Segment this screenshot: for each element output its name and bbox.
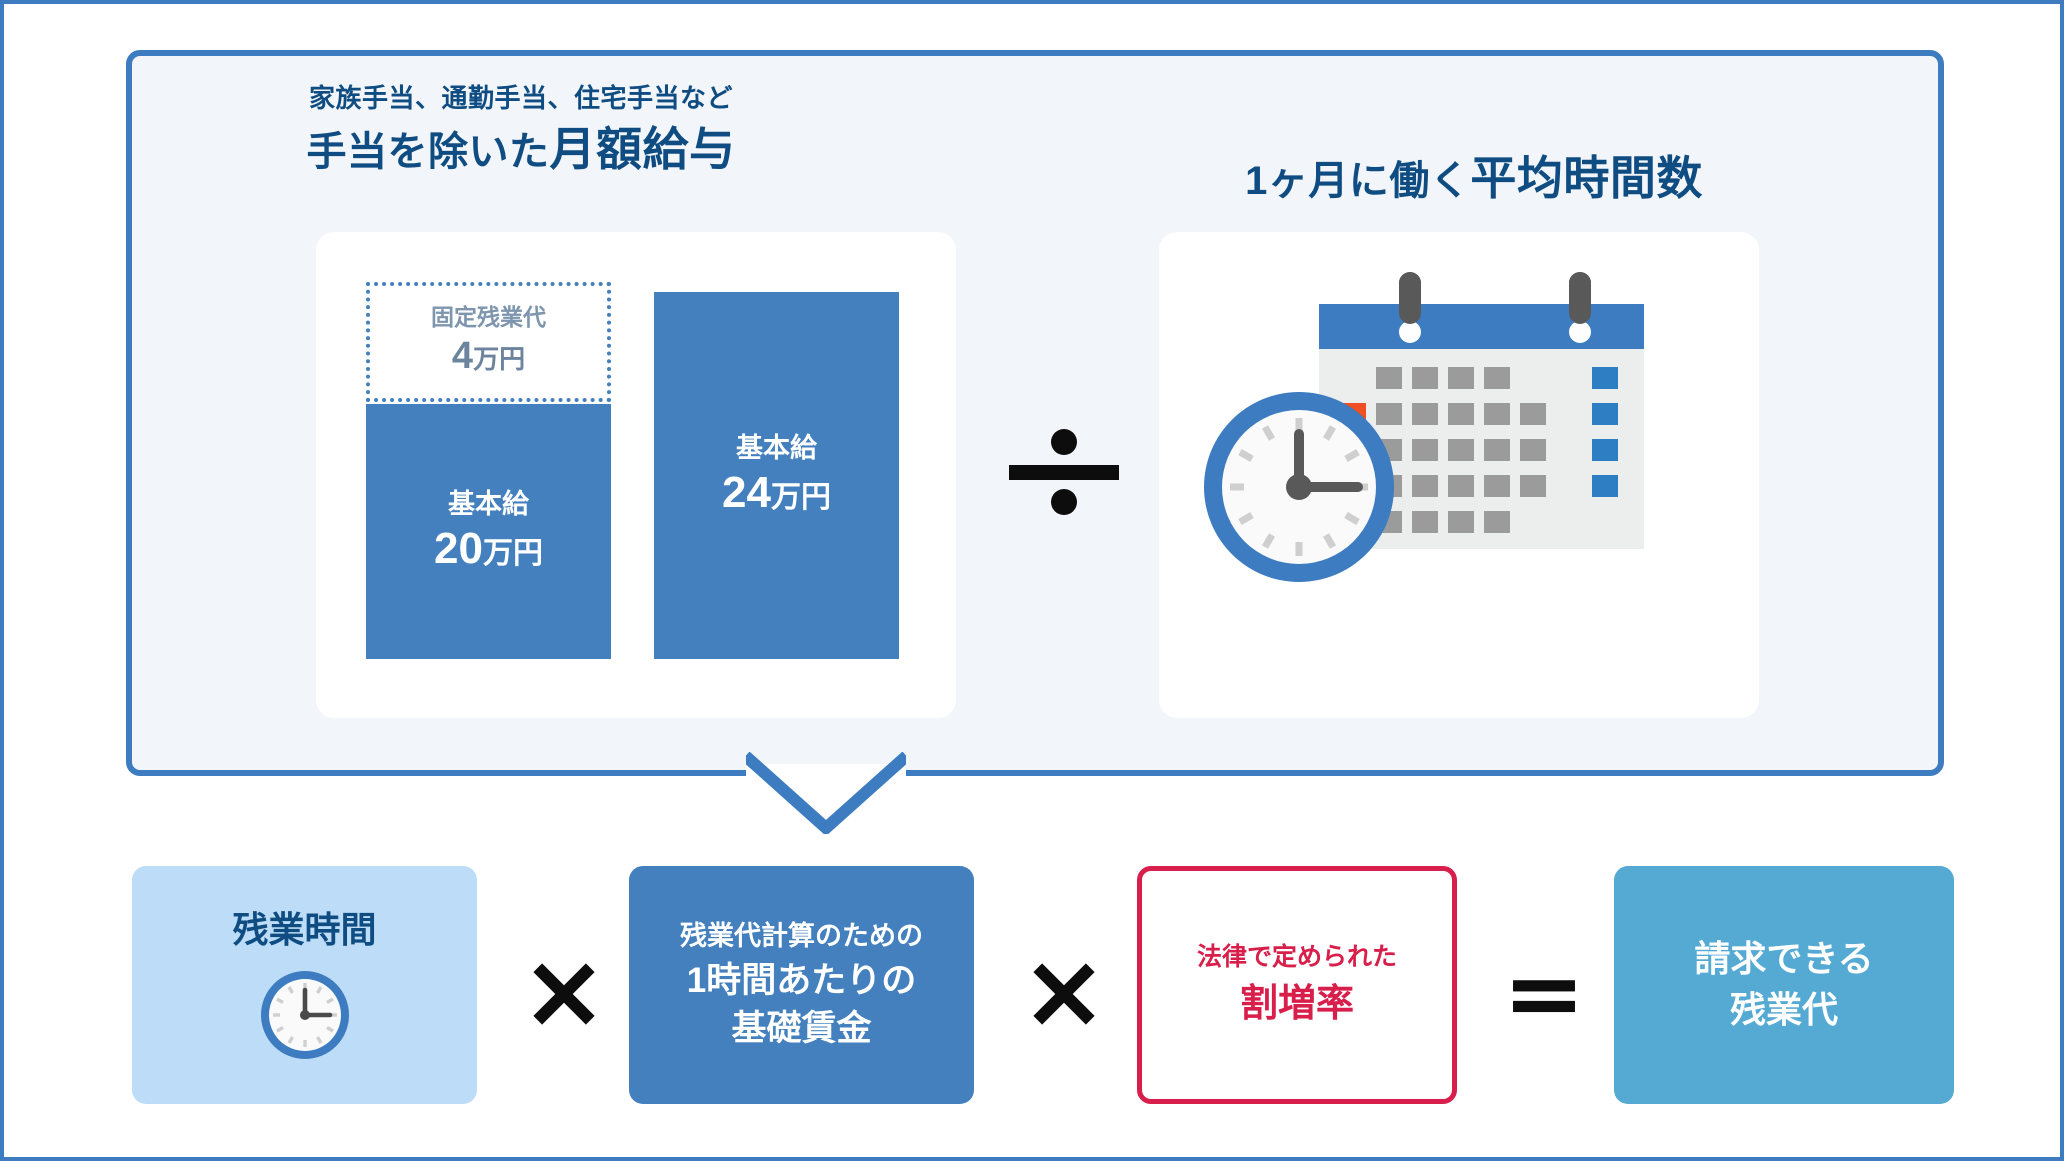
chip-claimable-overtime: 請求できる 残業代	[1614, 866, 1954, 1104]
overtime-hours-label: 残業時間	[232, 907, 376, 954]
bar-a-unit: 万円	[483, 537, 543, 570]
chip-statutory-rate: 法律で定められた 割増率	[1137, 866, 1457, 1104]
infographic-canvas: 家族手当、通勤手当、住宅手当など 手当を除いた月額給与 1ヶ月に働く平均時間数 …	[0, 0, 2064, 1161]
chip-overtime-hours: 残業時間	[132, 866, 477, 1104]
multiply-operator-1	[504, 934, 624, 1054]
salary-subtitle: 家族手当、通勤手当、住宅手当など	[126, 82, 916, 115]
down-arrow-notch-icon	[746, 752, 906, 834]
equals-operator	[1484, 934, 1604, 1054]
calendar-header	[1319, 304, 1644, 349]
hours-title-emphasis: 平均時間数	[1470, 152, 1703, 204]
hours-column-heading: 1ヶ月に働く平均時間数	[1074, 144, 1874, 208]
bar-a-amount: 20万円	[434, 524, 543, 575]
hourly-base-wage-line2: 1時間あたりの	[687, 958, 916, 1004]
bar-b-amount: 24万円	[722, 468, 831, 519]
statutory-rate-line2: 割増率	[1240, 980, 1354, 1029]
fixed-overtime-unit: 万円	[473, 344, 525, 374]
salary-column-heading: 家族手当、通勤手当、住宅手当など 手当を除いた月額給与	[126, 82, 916, 178]
claimable-overtime-line1: 請求できる	[1694, 936, 1873, 983]
bar-a-base-salary: 基本給 20万円	[366, 404, 611, 659]
divide-operator-icon	[994, 402, 1134, 542]
hours-title-plain: 1ヶ月に働く	[1245, 159, 1470, 203]
bar-a-label: 基本給	[448, 489, 529, 520]
equals-icon	[1501, 951, 1587, 1037]
hourly-base-wage-line3: 基礎賃金	[731, 1006, 871, 1052]
salary-title-emphasis: 月額給与	[550, 123, 736, 175]
salary-title-plain: 手当を除いた	[307, 130, 550, 174]
chip-hourly-base-wage: 残業代計算のための 1時間あたりの 基礎賃金	[629, 866, 974, 1104]
multiply-icon	[523, 953, 605, 1035]
clock-icon	[257, 967, 353, 1063]
hourly-base-wage-line1: 残業代計算のための	[680, 919, 923, 954]
fixed-overtime-amount: 4万円	[452, 334, 525, 380]
clock-icon	[1204, 392, 1394, 582]
statutory-rate-line1: 法律で定められた	[1197, 941, 1397, 974]
fixed-overtime-callout: 固定残業代 4万円	[366, 282, 611, 402]
hours-title: 1ヶ月に働く平均時間数	[1074, 150, 1874, 208]
claimable-overtime-line2: 残業代	[1730, 987, 1838, 1034]
fixed-overtime-label: 固定残業代	[431, 304, 546, 332]
salary-title: 手当を除いた月額給与	[126, 121, 916, 179]
bar-b-label: 基本給	[736, 433, 817, 464]
bar-b-base-salary: 基本給 24万円	[654, 292, 899, 659]
multiply-icon	[1023, 953, 1105, 1035]
bar-b-unit: 万円	[771, 481, 831, 514]
clock-and-calendar-illustration	[1184, 262, 1744, 692]
multiply-operator-2	[1004, 934, 1124, 1054]
